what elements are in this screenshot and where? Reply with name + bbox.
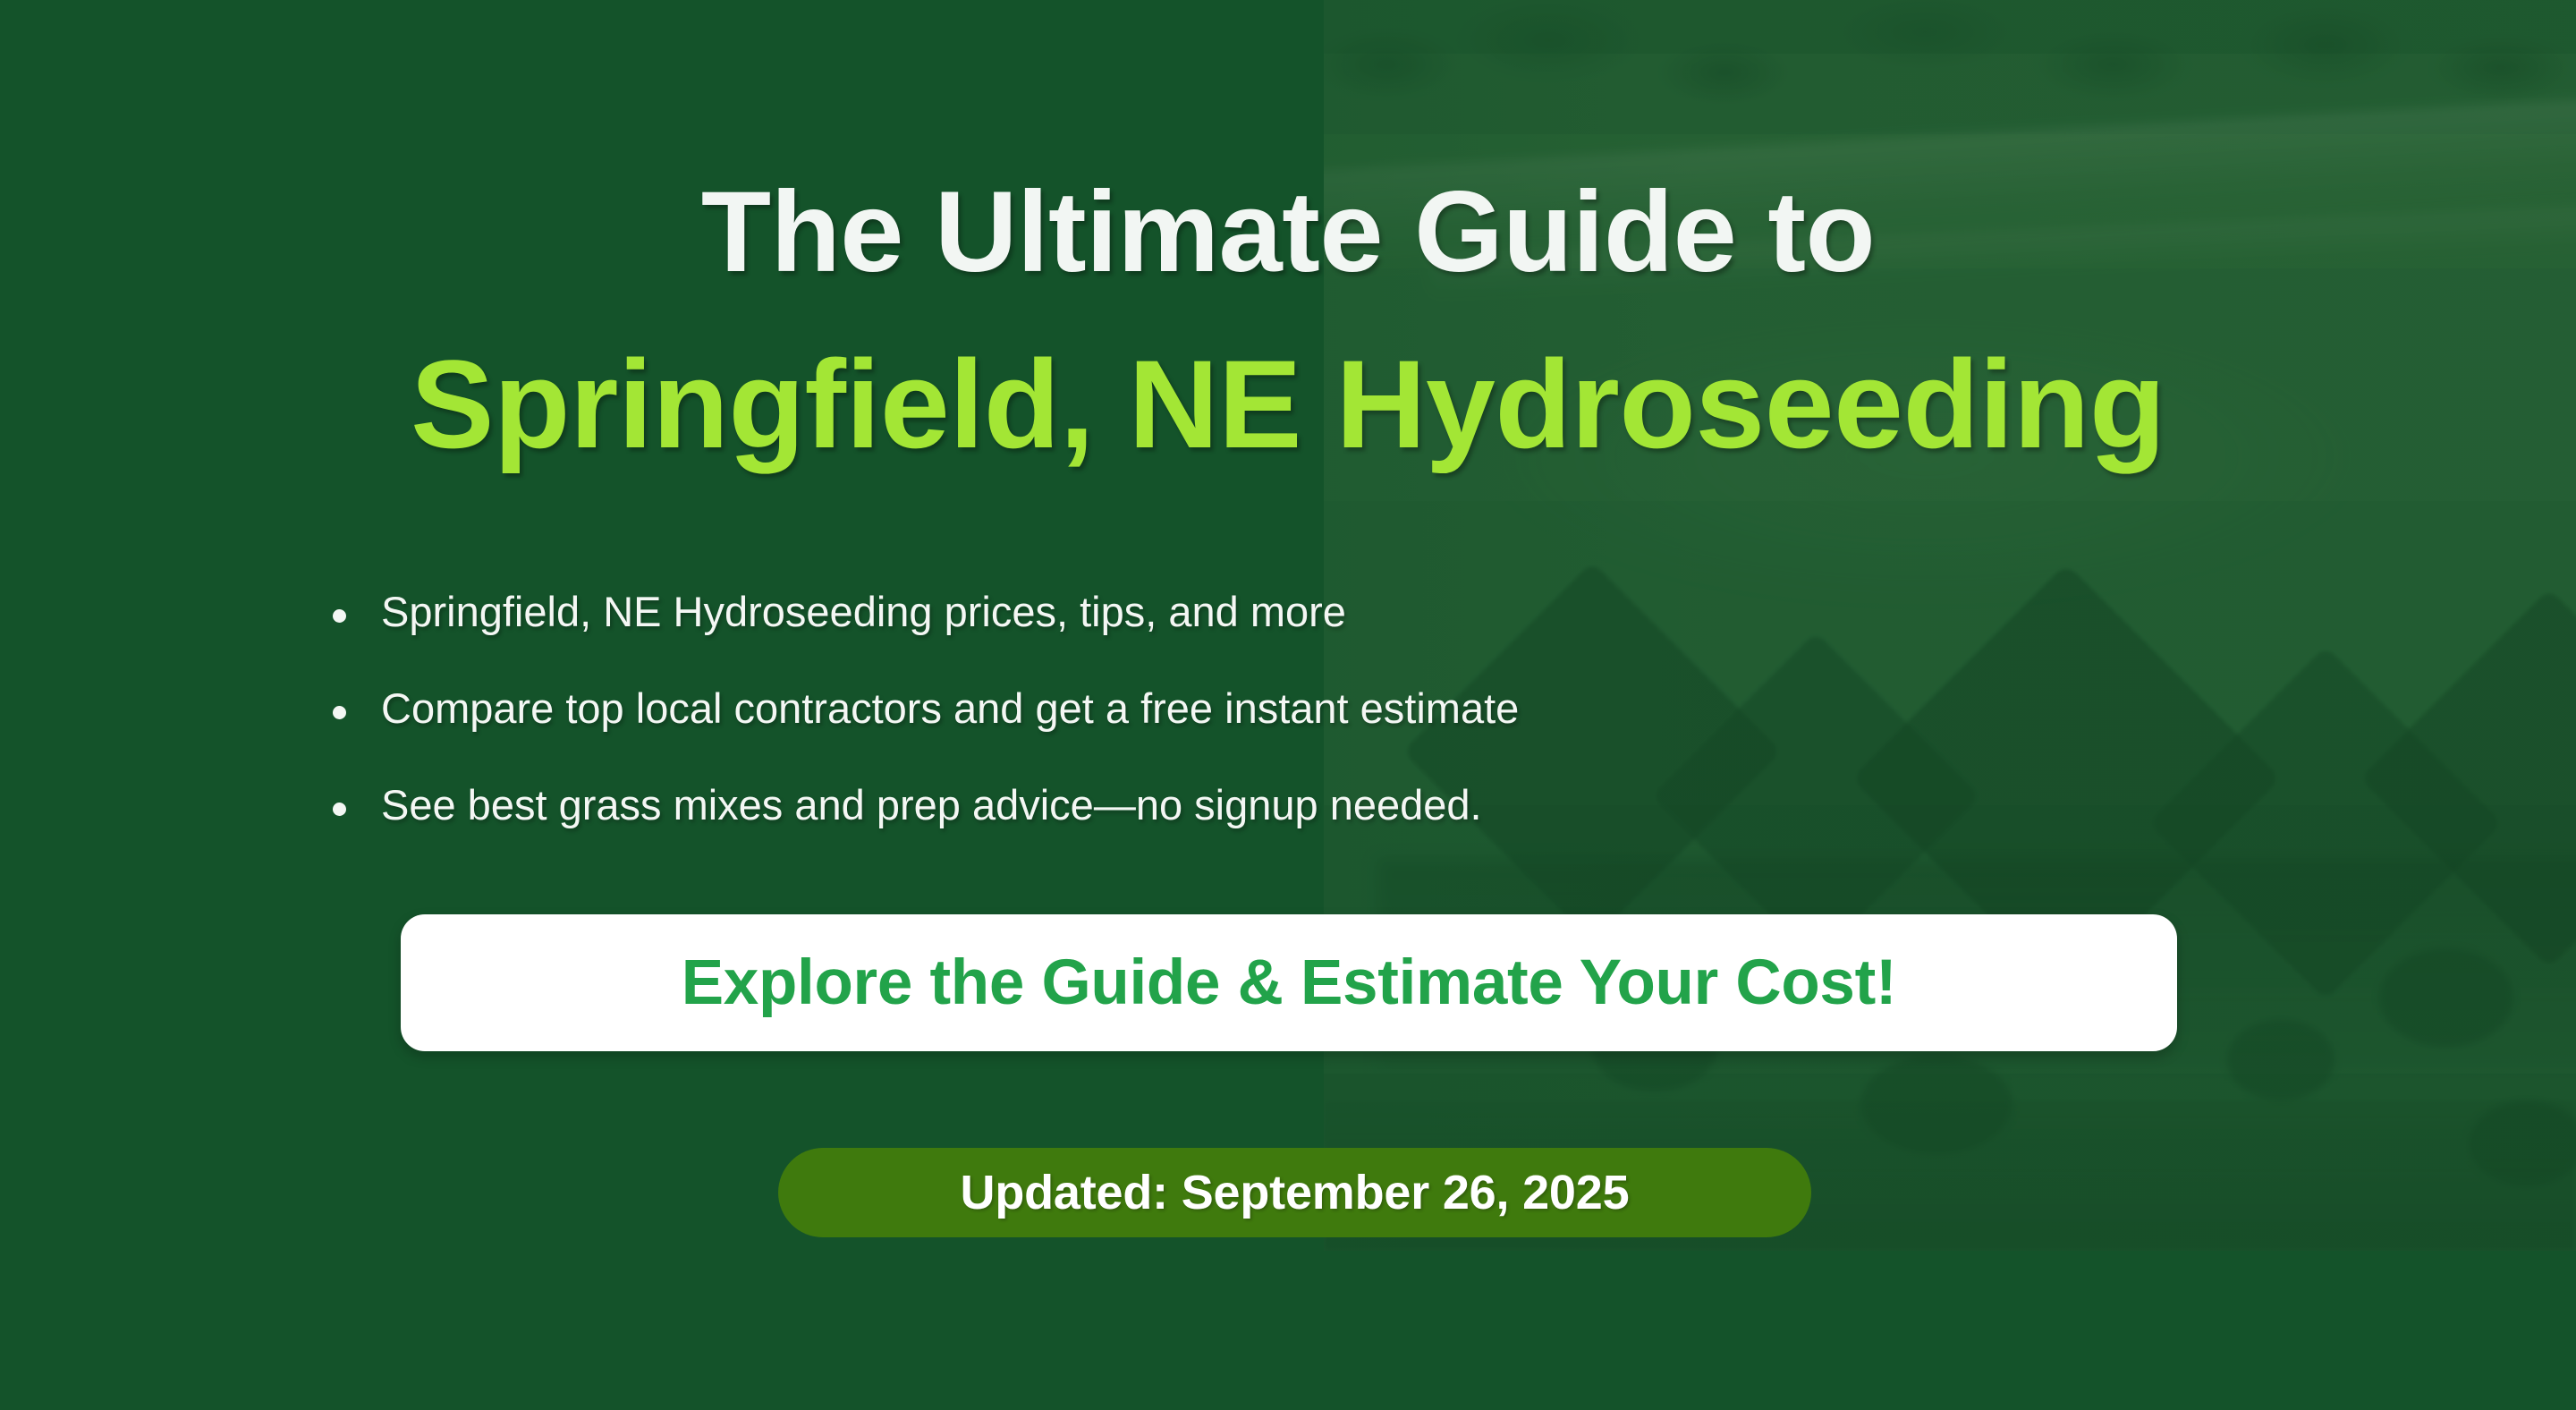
bullet-item-2: Compare top local contractors and get a …: [329, 687, 1519, 729]
cta-button-label: Explore the Guide & Estimate Your Cost!: [682, 947, 1897, 1019]
headline-line-2: Springfield, NE Hydroseeding: [0, 342, 2576, 467]
headline-line-1: The Ultimate Guide to: [0, 175, 2576, 290]
bullet-item-1: Springfield, NE Hydroseeding prices, tip…: [329, 590, 1519, 633]
hero-content: The Ultimate Guide to Springfield, NE Hy…: [0, 0, 2576, 1410]
benefit-bullet-list: Springfield, NE Hydroseeding prices, tip…: [329, 590, 1519, 880]
bullet-item-3: See best grass mixes and prep advice—no …: [329, 784, 1519, 826]
updated-date-badge: Updated: September 26, 2025: [778, 1148, 1811, 1237]
explore-guide-cta-button[interactable]: Explore the Guide & Estimate Your Cost!: [401, 914, 2177, 1051]
updated-date-label: Updated: September 26, 2025: [961, 1165, 1630, 1220]
hero-banner: The Ultimate Guide to Springfield, NE Hy…: [0, 0, 2576, 1410]
